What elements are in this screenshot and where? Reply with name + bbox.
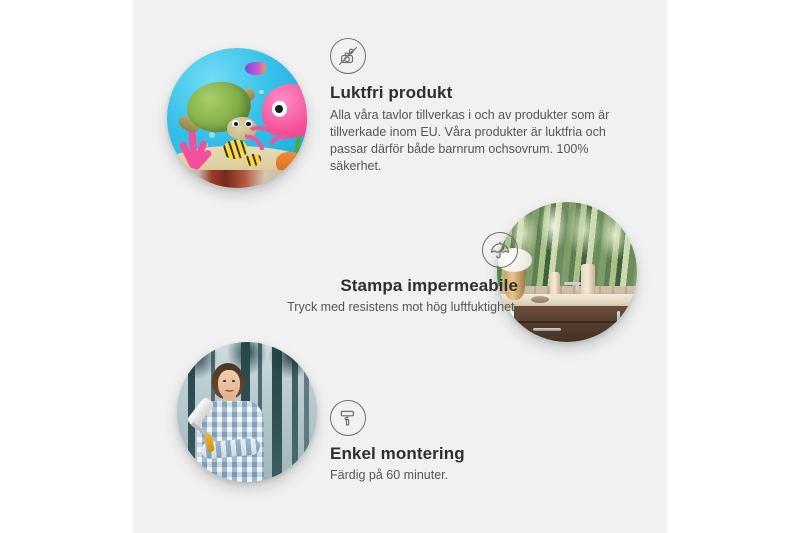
paint-roller-icon — [330, 400, 366, 436]
feature-description: Färdig på 60 minuter. — [330, 467, 590, 484]
room-floor-strip — [167, 170, 307, 188]
feature-title: Enkel montering — [330, 444, 590, 464]
yellow-fish-icon — [223, 140, 247, 158]
feature-description: Alla våra tavlor tillverkas i och av pro… — [330, 107, 630, 175]
umbrella-icon — [482, 232, 518, 268]
soap-dish — [531, 296, 549, 303]
painter-woman-photo[interactable] — [177, 342, 317, 482]
faucet-icon — [564, 282, 581, 285]
feature-title: Stampa impermeabile — [213, 276, 518, 296]
forest-canopy — [177, 342, 317, 390]
no-perfume-icon — [330, 38, 366, 74]
bubble-icon — [259, 90, 263, 94]
feature-block-odourless: Luktfri produkt Alla våra tavlor tillver… — [330, 38, 630, 175]
octopus-eye — [272, 101, 287, 116]
coral-icon — [174, 126, 216, 168]
underwater-cartoon-artwork — [167, 48, 307, 188]
woman-eye — [223, 380, 226, 382]
screenshot-stage: Luktfri produkt Alla våra tavlor tillver… — [0, 0, 800, 533]
bathroom-interior-artwork — [497, 202, 637, 342]
feature-block-assembly: Enkel montering Färdig på 60 minuter. — [330, 400, 590, 484]
drawer-handle — [533, 328, 561, 331]
painter-woman-artwork — [177, 342, 317, 482]
product-feature-panel: Luktfri produkt Alla våra tavlor tillver… — [133, 0, 667, 533]
feature-block-waterproof: Stampa impermeabile Tryck med resistens … — [213, 232, 518, 316]
feature-description: Tryck med resistens mot hög luftfuktighe… — [213, 299, 518, 316]
yellow-fish-icon — [245, 154, 260, 165]
bathroom-interior-photo[interactable] — [497, 202, 637, 342]
purple-fish-icon — [245, 62, 266, 75]
underwater-cartoon-photo[interactable] — [167, 48, 307, 188]
feature-title: Luktfri produkt — [330, 83, 630, 103]
cabinet-handle — [617, 311, 620, 332]
